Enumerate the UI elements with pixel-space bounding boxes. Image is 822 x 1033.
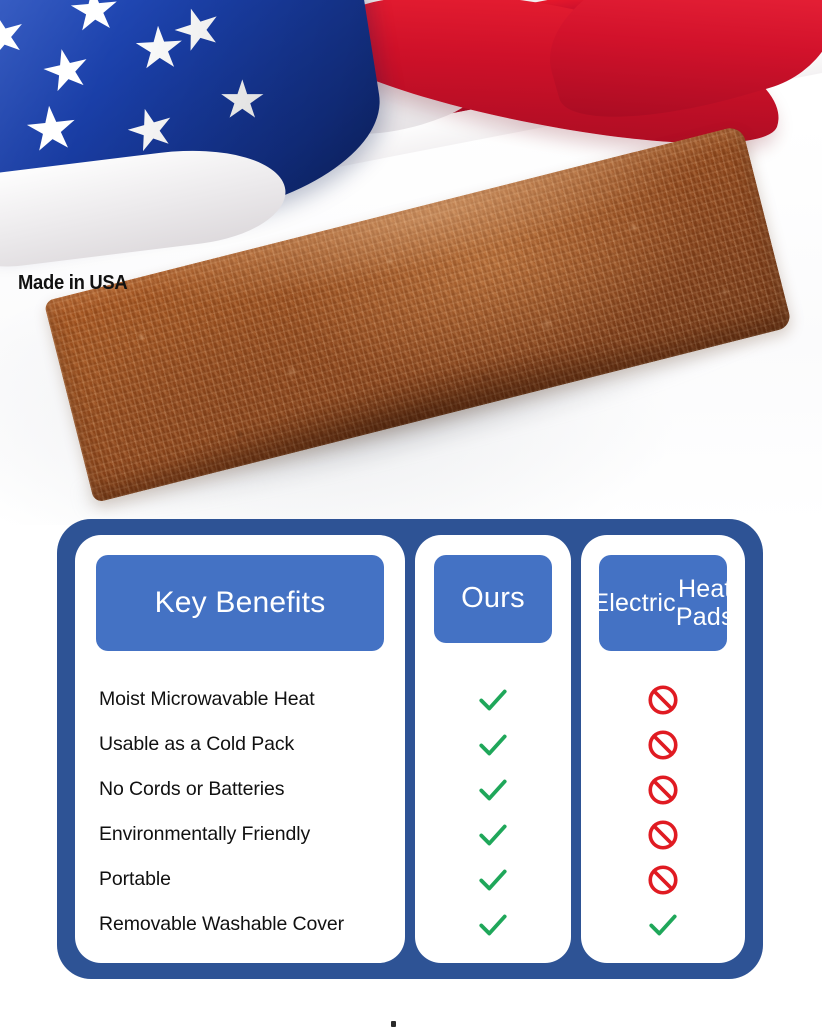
benefit-label: Environmentally Friendly [99,823,310,846]
check-icon [476,863,510,897]
table-row: Usable as a Cold Pack [75,722,405,767]
table-row [581,857,745,902]
check-icon [476,683,510,717]
check-icon [646,908,680,942]
table-row [415,812,571,857]
column-header-line-1: Electric [592,589,676,618]
table-row [581,677,745,722]
hero-photo: Made in USA [0,0,822,525]
no-entry-icon [646,818,680,852]
check-icon [476,908,510,942]
benefit-label-list: Moist Microwavable Heat Usable as a Cold… [75,677,405,947]
benefit-label: Removable Washable Cover [99,913,344,936]
column-ours: Ours [415,535,571,963]
table-row [415,677,571,722]
column-header-ours: Ours [434,555,552,643]
benefit-label: Moist Microwavable Heat [99,688,315,711]
product-group [38,150,798,510]
column-header-key-benefits: Key Benefits [96,555,384,651]
table-row: No Cords or Batteries [75,767,405,812]
table-row: Removable Washable Cover [75,902,405,947]
table-row [581,722,745,767]
ours-mark-list [415,677,571,947]
table-row [581,902,745,947]
flag-star [39,44,94,97]
column-electric-heat-pads: Electric Heat Pads [581,535,745,963]
table-row [415,722,571,767]
benefit-label: Portable [99,868,171,891]
column-header-electric-heat-pads: Electric Heat Pads [599,555,727,651]
check-icon [476,773,510,807]
table-row: Moist Microwavable Heat [75,677,405,722]
no-entry-icon [646,863,680,897]
no-entry-icon [646,683,680,717]
flag-star [169,1,226,57]
column-header-line-2: Heat Pads [676,575,734,632]
benefit-label: No Cords or Batteries [99,778,284,801]
image-artifact-speck [391,1021,396,1027]
table-row [415,902,571,947]
check-icon [476,728,510,762]
check-icon [476,818,510,852]
table-row: Portable [75,857,405,902]
electric-mark-list [581,677,745,947]
flag-star [69,0,121,35]
comparison-table: Key Benefits Moist Microwavable Heat Usa… [57,519,763,979]
flag-star [0,9,30,63]
no-entry-icon [646,728,680,762]
table-row [415,767,571,812]
column-key-benefits: Key Benefits Moist Microwavable Heat Usa… [75,535,405,963]
flag-star [134,25,184,73]
table-row [581,767,745,812]
flag-star [220,79,264,121]
made-in-usa-label: Made in USA [18,272,127,295]
table-row: Environmentally Friendly [75,812,405,857]
table-row [581,812,745,857]
infographic-page: Made in USA Key Benefits Moist Microwava… [0,0,822,1033]
no-entry-icon [646,773,680,807]
flag-star [24,103,79,156]
table-row [415,857,571,902]
benefit-label: Usable as a Cold Pack [99,733,294,756]
